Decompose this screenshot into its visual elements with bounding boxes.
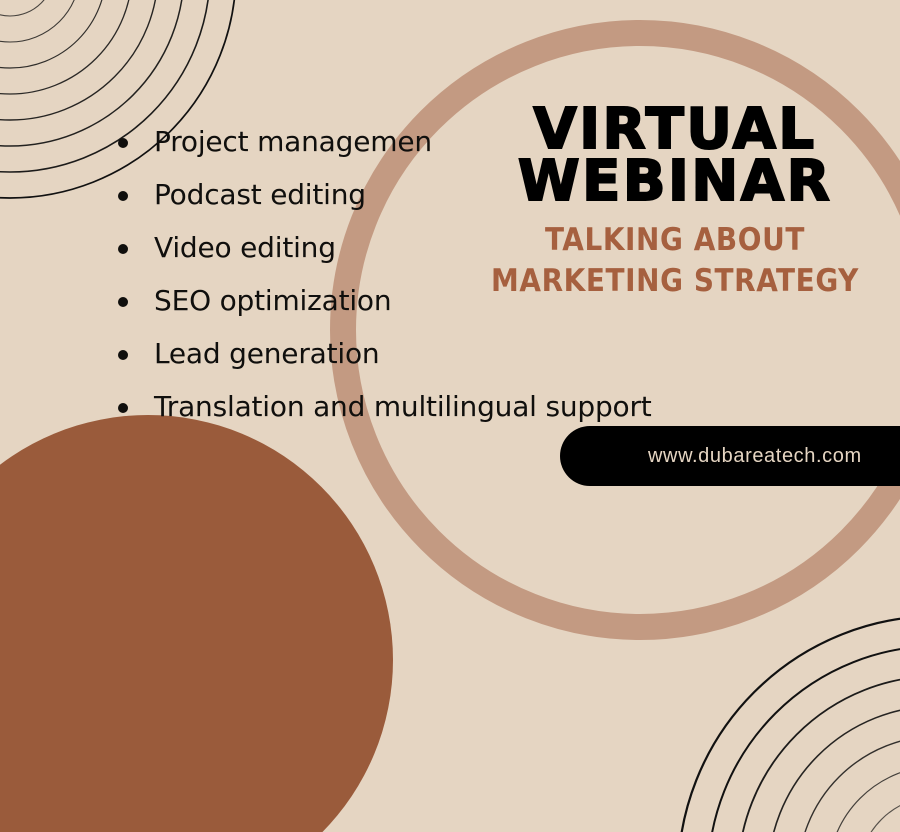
website-url-text: www.dubareatech.com [648,445,862,468]
headline-line-2: WEBINAR [460,156,890,208]
list-item-label: SEO optimization [154,284,391,317]
website-url-pill[interactable]: www.dubareatech.com [560,426,900,486]
subheadline-line-2: MARKETING STRATEGY [460,261,890,302]
bullet-dot-icon [118,297,128,307]
poster-content: Project managemen Podcast editing Video … [0,0,900,832]
list-item-label: Project managemen [154,125,432,158]
list-item-label: Translation and multilingual support [154,390,652,423]
bullet-dot-icon [118,138,128,148]
headline-block: VIRTUAL WEBINAR TALKING ABOUT MARKETING … [460,104,890,302]
bullet-dot-icon [118,403,128,413]
list-item: Lead generation [112,332,792,376]
poster-canvas: Project managemen Podcast editing Video … [0,0,900,832]
bullet-dot-icon [118,350,128,360]
list-item-label: Podcast editing [154,178,366,211]
bullet-dot-icon [118,191,128,201]
subheadline-line-1: TALKING ABOUT [460,220,890,261]
list-item-label: Video editing [154,231,336,264]
bullet-dot-icon [118,244,128,254]
list-item: Translation and multilingual support [112,385,792,429]
list-item-label: Lead generation [154,337,379,370]
